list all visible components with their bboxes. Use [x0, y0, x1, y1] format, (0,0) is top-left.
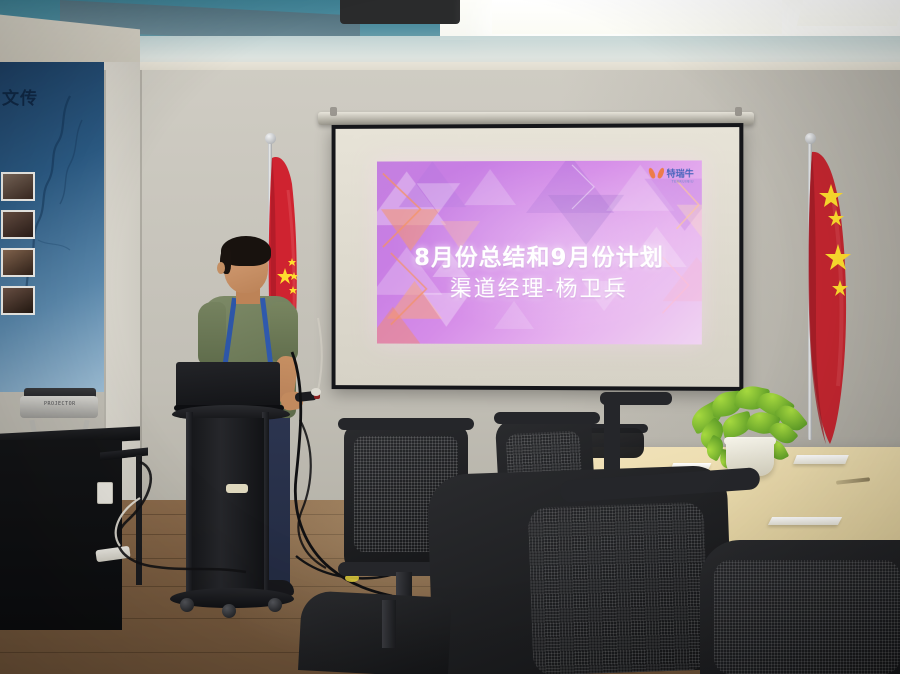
flag-right — [790, 148, 860, 448]
poster-photo — [1, 248, 35, 277]
projected-slide: 特瑞牛 TERRUINIU 8月份总结和9月份计划 渠道经理-杨卫兵 — [377, 160, 702, 344]
podium-item — [226, 484, 248, 493]
screen-bracket-right — [735, 107, 742, 116]
chair-rear-right-arm — [604, 398, 620, 478]
notebook — [793, 455, 849, 464]
slide-title: 8月份总结和9月份计划 — [377, 247, 702, 270]
presenter-ear — [217, 262, 225, 274]
projector-label: PROJECTOR — [44, 401, 76, 407]
slide-logo-subtext: TERRUINIU — [672, 180, 694, 184]
flagpole-finial-left — [265, 133, 276, 144]
poster-photo — [1, 286, 35, 315]
projector — [20, 396, 98, 418]
ceiling-black-fixture — [340, 0, 460, 24]
chair-mid-frame-top — [338, 418, 474, 430]
notebook — [768, 517, 842, 525]
slide-logo-text: 特瑞牛 — [666, 167, 693, 180]
wall-outlet[interactable] — [97, 482, 113, 504]
av-cabinet — [0, 440, 122, 630]
chair-bottom-left-post — [382, 600, 396, 648]
chair-foreground-mesh — [528, 502, 710, 674]
chair-front-left-frame — [494, 412, 600, 424]
screen-bracket-left — [330, 107, 337, 116]
ceiling-light-strip-a — [492, 0, 782, 34]
poster-photo — [1, 210, 35, 239]
poster-heading: 文传 — [2, 84, 38, 109]
chair-bottom-left-back — [298, 590, 452, 674]
slide-logo: 特瑞牛 — [649, 167, 693, 180]
podium-caster — [222, 604, 236, 618]
cabinet-leg — [136, 455, 142, 585]
chair-bottom-right-back — [700, 540, 900, 674]
chair-rear-right-top — [600, 392, 672, 405]
poster-photo — [1, 172, 35, 201]
podium-caster — [268, 598, 282, 612]
podium-caster — [180, 598, 194, 612]
chair-bottom-right-mesh — [714, 560, 900, 674]
presenter-sleeve-right — [270, 302, 298, 362]
projection-screen: 特瑞牛 TERRUINIU 8月份总结和9月份计划 渠道经理-杨卫兵 — [332, 123, 744, 391]
podium-body — [192, 418, 264, 593]
bull-horns-icon — [649, 167, 663, 179]
presenter-sleeve-left — [198, 302, 226, 366]
wall-poster: 文传 — [0, 62, 104, 392]
flagpole-finial-right — [805, 133, 816, 144]
conference-room-photo: 文传 — [0, 0, 900, 674]
ceiling-light-strip-b — [797, 0, 900, 26]
presenter-remote-tip — [314, 393, 320, 399]
slide-subtitle: 渠道经理-杨卫兵 — [377, 279, 702, 301]
laptop[interactable] — [176, 362, 280, 409]
